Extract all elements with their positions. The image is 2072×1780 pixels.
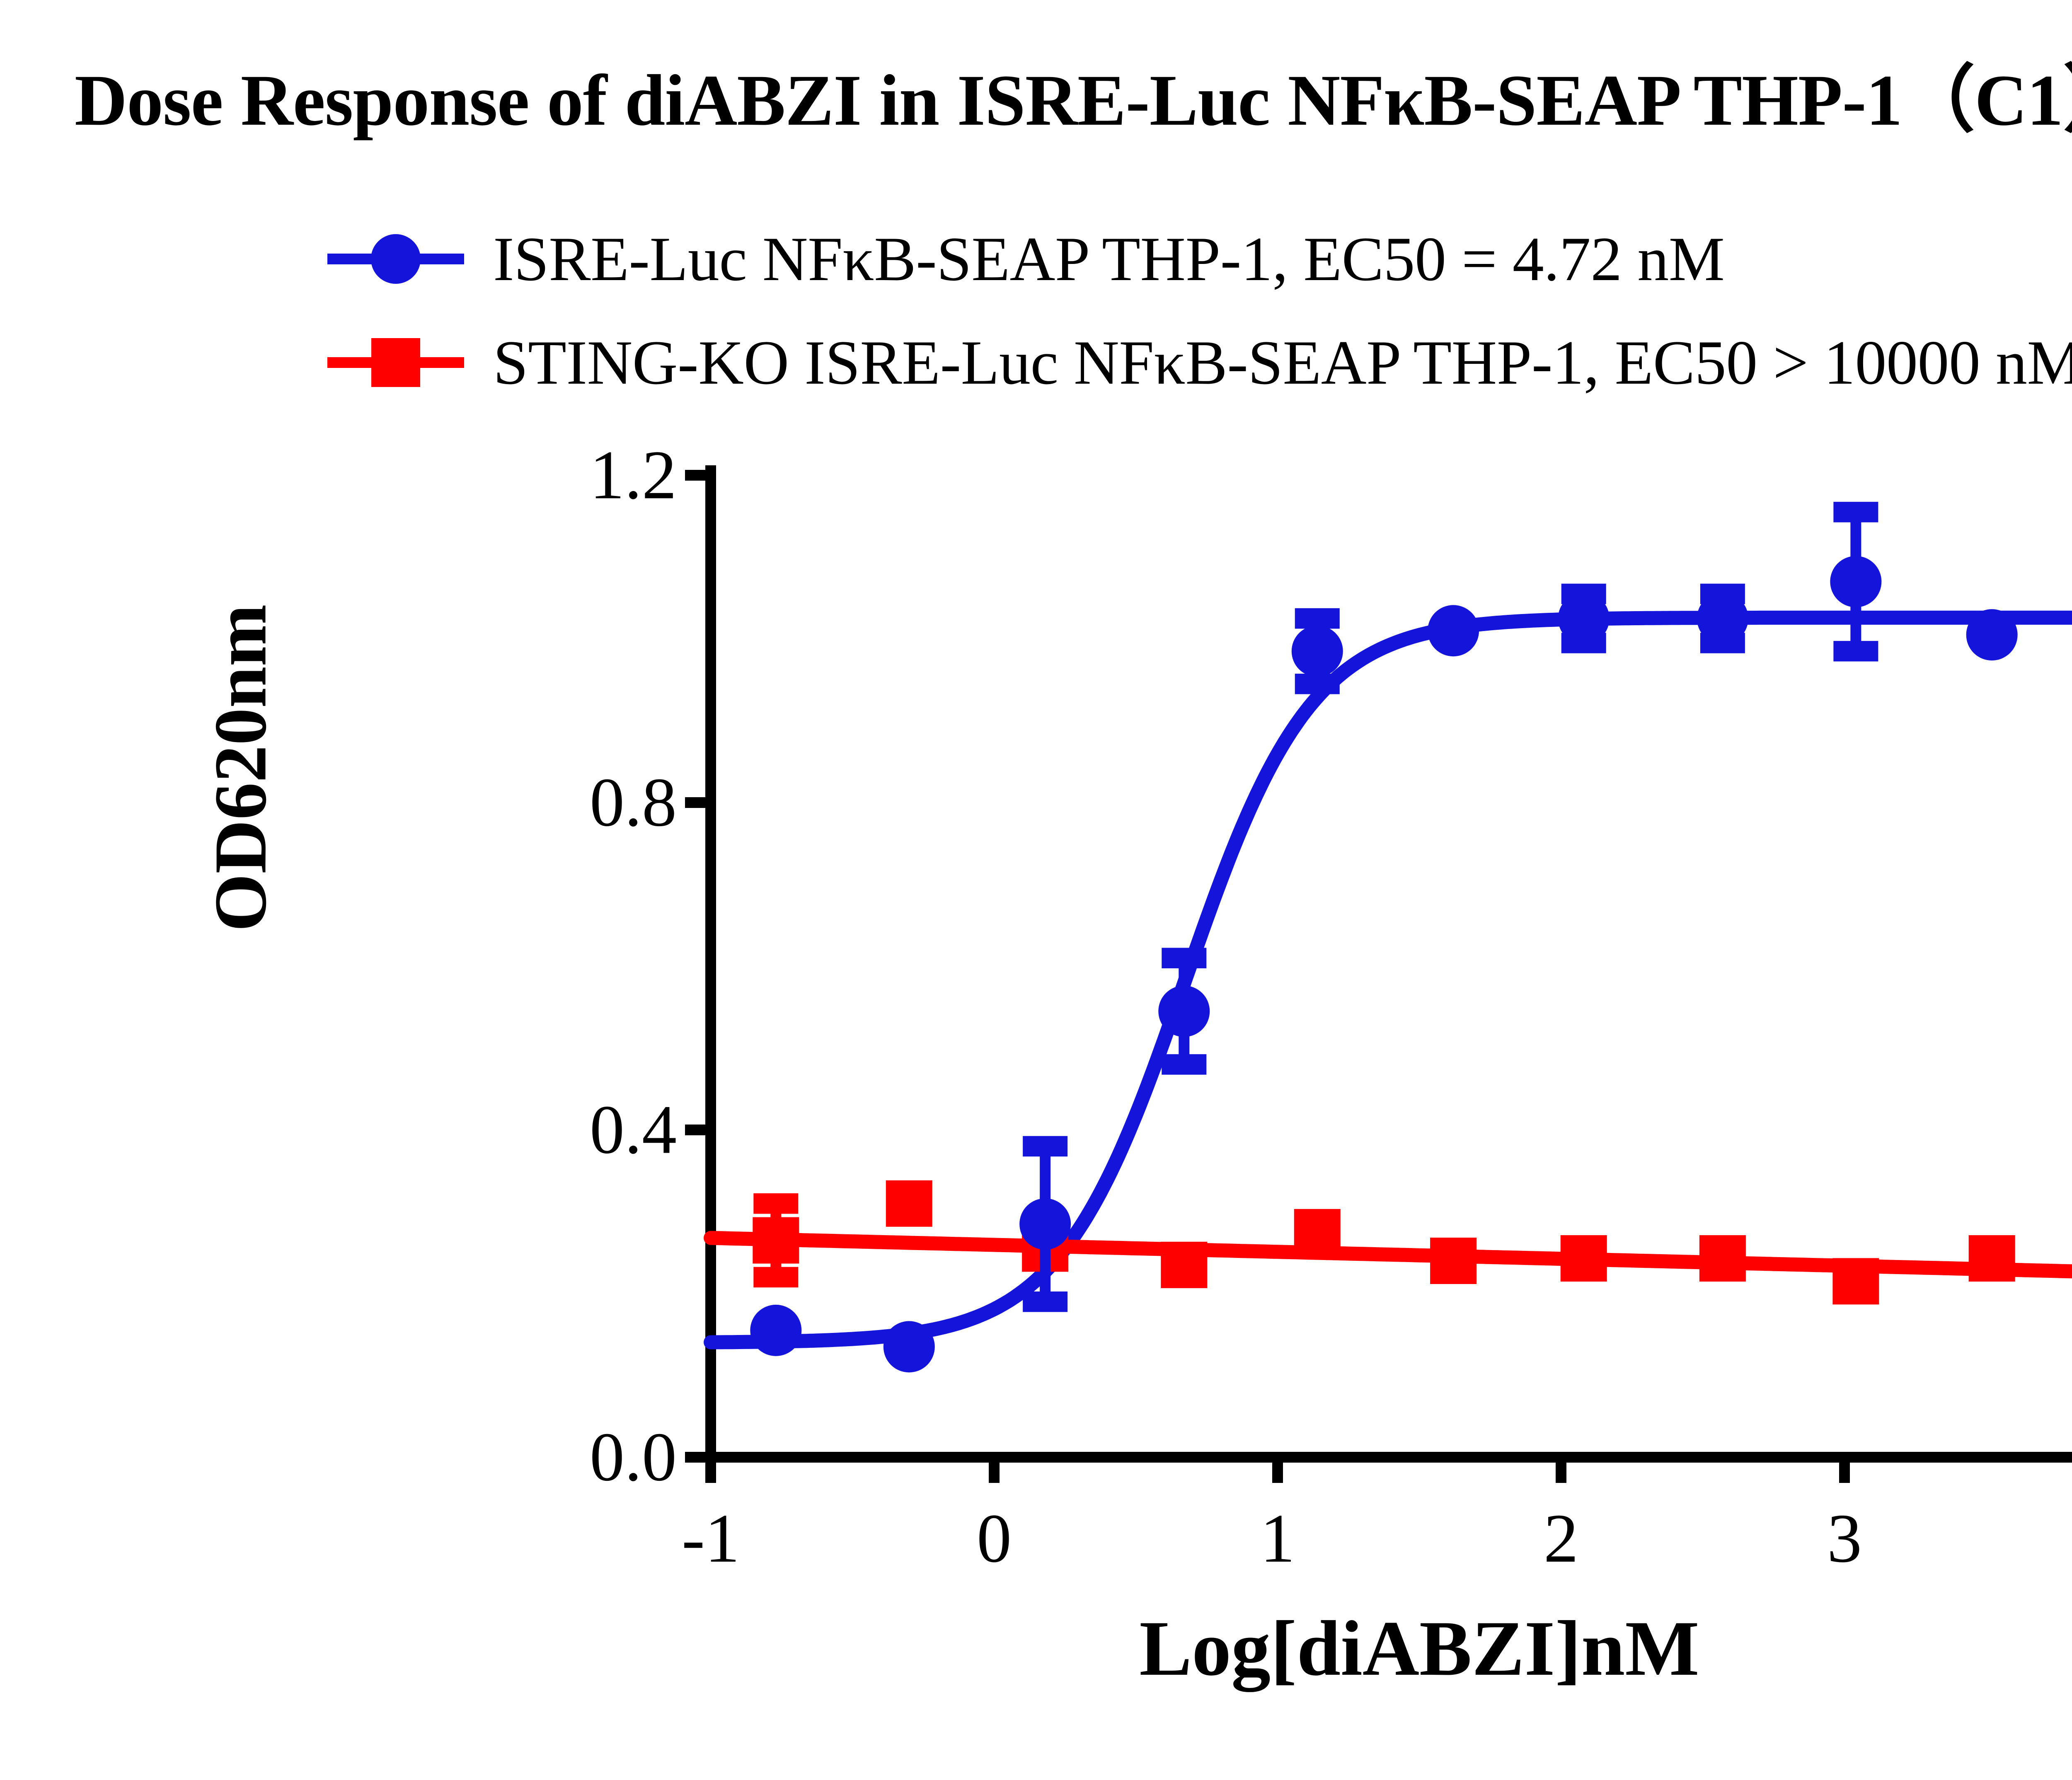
plot-area: 0.00.40.81.2-101234 OD620nm Log[diABZI]n… bbox=[0, 0, 2072, 1780]
x-tick-label: 1 bbox=[1195, 1499, 1360, 1579]
data-point-marker bbox=[1294, 1209, 1341, 1255]
data-point-marker bbox=[886, 1180, 932, 1227]
x-axis-label: Log[diABZI]nM bbox=[711, 1603, 2072, 1694]
data-point-marker bbox=[1830, 556, 1881, 607]
data-point-marker bbox=[750, 1305, 801, 1356]
x-tick-label: 2 bbox=[1478, 1499, 1644, 1579]
data-point-marker bbox=[753, 1217, 799, 1264]
data-point-marker bbox=[1430, 1238, 1477, 1284]
y-axis-label: OD620nm bbox=[198, 478, 283, 1058]
chart-figure: Dose Response of diABZI in ISRE-Luc NFκB… bbox=[0, 0, 2072, 1780]
x-tick-label: 0 bbox=[911, 1499, 1077, 1579]
data-point-marker bbox=[1697, 593, 1748, 644]
data-point-marker bbox=[1832, 1258, 1879, 1304]
y-tick-label: 0.8 bbox=[461, 763, 677, 843]
y-tick-label: 0.0 bbox=[461, 1417, 677, 1497]
data-point-marker bbox=[1966, 609, 2018, 660]
y-tick-label: 1.2 bbox=[461, 435, 677, 515]
y-tick-label: 0.4 bbox=[461, 1090, 677, 1170]
data-point-marker bbox=[1558, 593, 1610, 644]
x-tick-label: -1 bbox=[628, 1499, 794, 1579]
data-point-marker bbox=[1699, 1235, 1746, 1282]
x-tick-label: 4 bbox=[2045, 1499, 2072, 1579]
data-point-marker bbox=[1428, 605, 1479, 656]
x-tick-label: 3 bbox=[1762, 1499, 1927, 1579]
data-point-marker bbox=[1561, 1235, 1607, 1282]
data-point-marker bbox=[1161, 1242, 1207, 1288]
data-point-marker bbox=[884, 1321, 935, 1372]
data-point-marker bbox=[1158, 986, 1210, 1037]
fit-curve-isre-luc bbox=[711, 618, 2072, 1342]
data-point-marker bbox=[1969, 1235, 2015, 1282]
data-point-marker bbox=[1019, 1198, 1071, 1250]
data-point-marker bbox=[1292, 626, 1343, 677]
